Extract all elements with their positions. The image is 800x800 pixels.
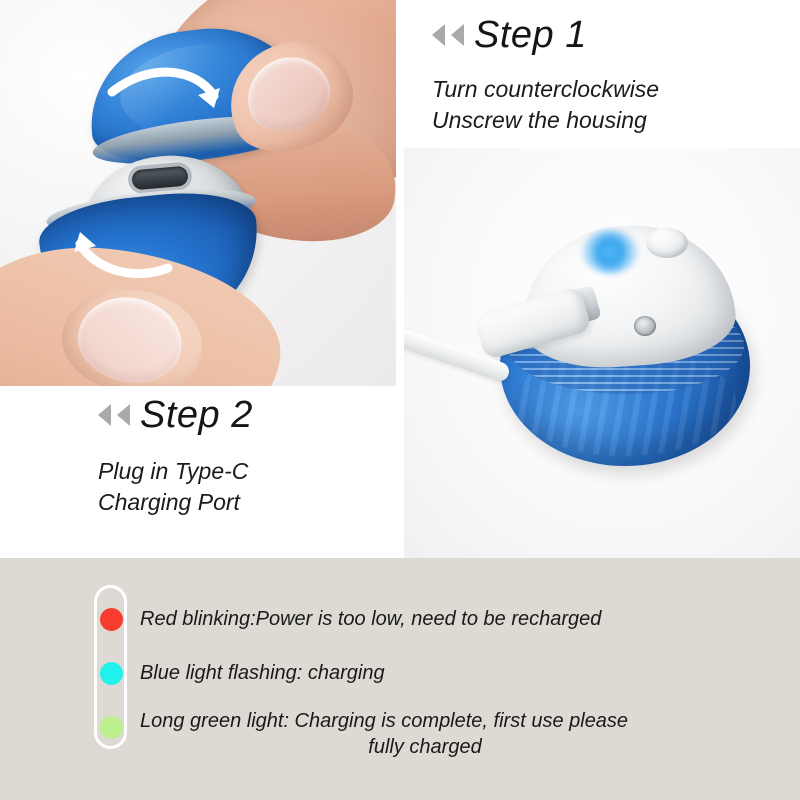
- legend-item-green-line2: fully charged: [140, 734, 710, 760]
- status-dot-red-icon: [100, 608, 123, 631]
- step-2-heading: Step 2: [88, 396, 408, 434]
- step-1-heading: Step 1: [432, 16, 782, 54]
- product-instruction-page: Step 1 Turn counterclockwise Unscrew the…: [0, 0, 800, 800]
- step-2-body: Plug in Type-C Charging Port: [88, 456, 408, 518]
- cap-screw: [634, 316, 656, 336]
- status-dot-green-icon: [100, 716, 123, 739]
- arrowhead-counterclockwise: [74, 232, 96, 252]
- cap-nub: [646, 228, 688, 258]
- legend-item-red-text: Red blinking:Power is too low, need to b…: [140, 606, 740, 632]
- triangle-left-icon: [451, 24, 464, 46]
- legend-item-cyan-text: Blue light flashing: charging: [140, 660, 740, 686]
- curved-arrow-counterclockwise: [80, 244, 168, 274]
- triangle-left-icon: [432, 24, 445, 46]
- legend-item-green-line1: Long green light: Charging is complete, …: [140, 708, 740, 734]
- step-1-title: Step 1: [474, 16, 587, 54]
- step-1-body: Turn counterclockwise Unscrew the housin…: [432, 74, 782, 136]
- step-2-title: Step 2: [140, 396, 253, 434]
- step-1-block: Step 1 Turn counterclockwise Unscrew the…: [432, 16, 782, 136]
- triangle-left-icon: [98, 404, 111, 426]
- triangle-left-icon: [117, 404, 130, 426]
- top-region: Step 1 Turn counterclockwise Unscrew the…: [0, 0, 800, 558]
- rotation-arrows: [0, 0, 396, 386]
- step-2-block: Step 2 Plug in Type-C Charging Port: [88, 396, 408, 518]
- curved-arrow-clockwise: [112, 72, 214, 96]
- photo-step1-unscrew: [0, 0, 396, 386]
- led-status-legend: Red blinking:Power is too low, need to b…: [0, 558, 800, 800]
- legend-item-green-text: Long green light: Charging is complete, …: [140, 708, 740, 760]
- photo-step2-charging: [404, 148, 800, 558]
- status-dot-cyan-icon: [100, 662, 123, 685]
- blue-led-glow-icon: [582, 230, 638, 274]
